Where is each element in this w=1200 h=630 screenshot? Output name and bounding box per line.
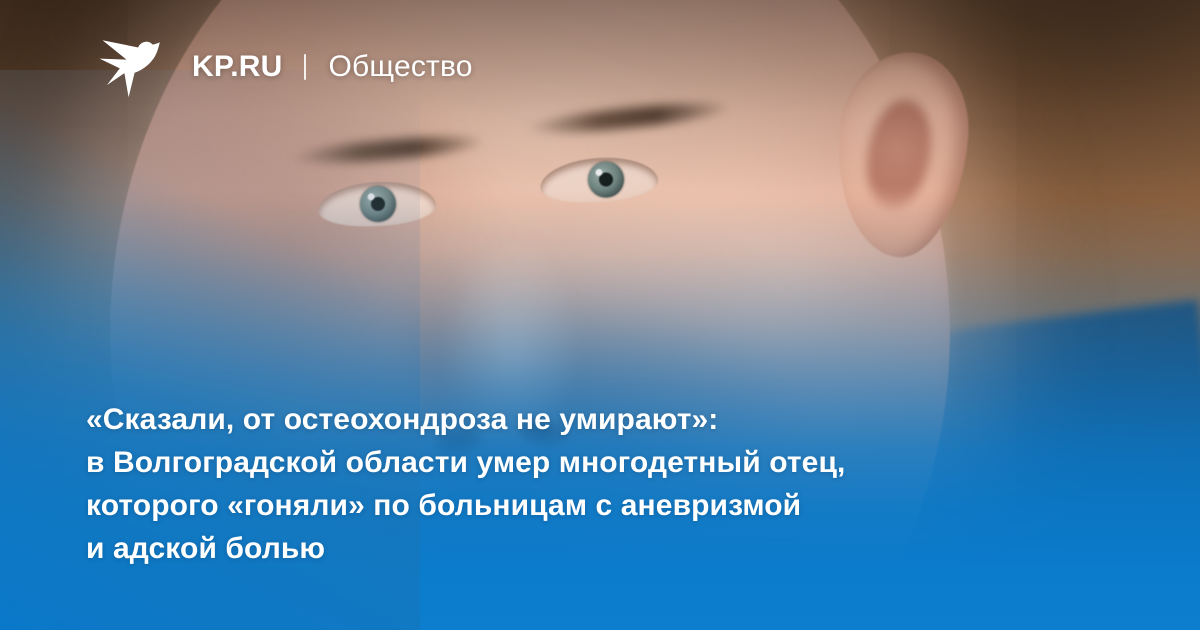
headline-line-4: и адской болью [86,527,1086,570]
headline-line-3: которого «гоняли» по больницам с аневриз… [86,484,1086,527]
headline-line-2: в Волгоградской области умер многодетный… [86,441,1086,484]
brand-label: KP.RU [192,52,282,82]
rubric-label: Общество [328,50,472,84]
header-separator [304,54,306,80]
headline: «Сказали, от остеохондроза не умирают»: … [86,398,1086,570]
share-card: KP.RU Общество «Сказали, от остеохондроз… [0,0,1200,630]
swallow-bird-logo-icon[interactable] [96,36,162,98]
headline-line-1: «Сказали, от остеохондроза не умирают»: [86,398,1086,441]
card-header: KP.RU Общество [96,36,473,98]
